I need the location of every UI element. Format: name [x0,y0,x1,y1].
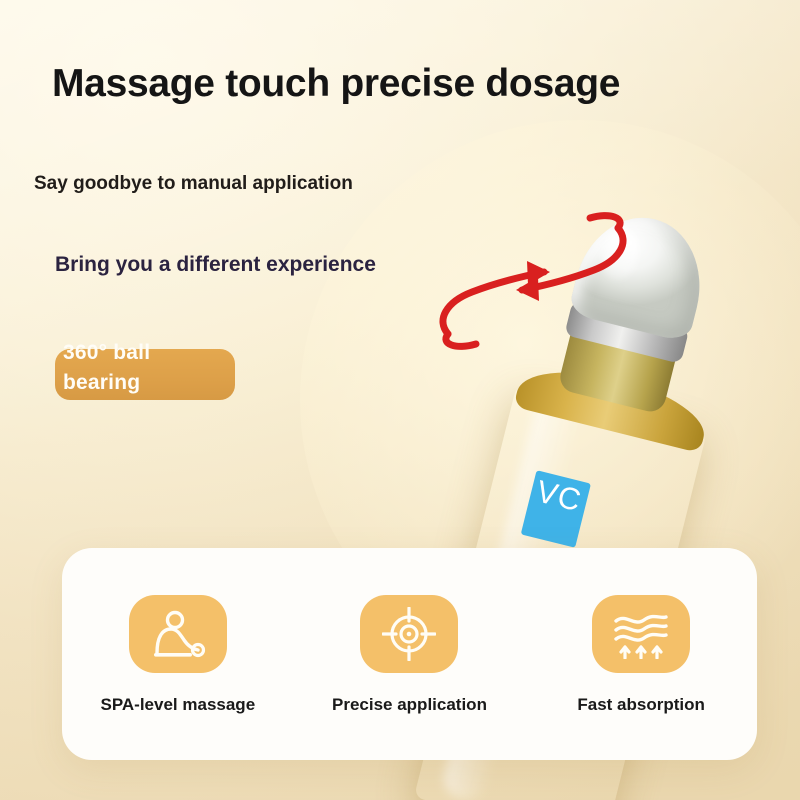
rotation-arrow-icon [432,216,632,356]
feature-icon-tile [592,595,690,673]
feature-item-fast-absorption[interactable]: Fast absorption [546,595,736,715]
feature-icon-tile [360,595,458,673]
crosshair-target-icon [382,607,436,661]
feature-icon-tile [129,595,227,673]
feature-item-precise-application[interactable]: Precise application [314,595,504,715]
subheading-primary: Say goodbye to manual application [34,173,353,195]
feature-item-spa-massage[interactable]: SPA-level massage [83,595,273,715]
feature-label: SPA-level massage [100,695,255,715]
vc-label-text: VC [528,474,590,518]
massage-figure-icon [149,609,207,659]
ball-bearing-badge-label: 360° ball bearing [63,338,243,398]
promo-image-stage: VC VC Massage touch precise dosage Say g… [0,0,800,800]
feature-label: Fast absorption [577,695,705,715]
absorption-waves-icon [612,609,670,659]
page-title: Massage touch precise dosage [52,62,620,106]
feature-list: SPA-level massage Precise application [62,548,757,760]
subheading-secondary: Bring you a different experience [55,253,376,277]
feature-label: Precise application [332,695,487,715]
